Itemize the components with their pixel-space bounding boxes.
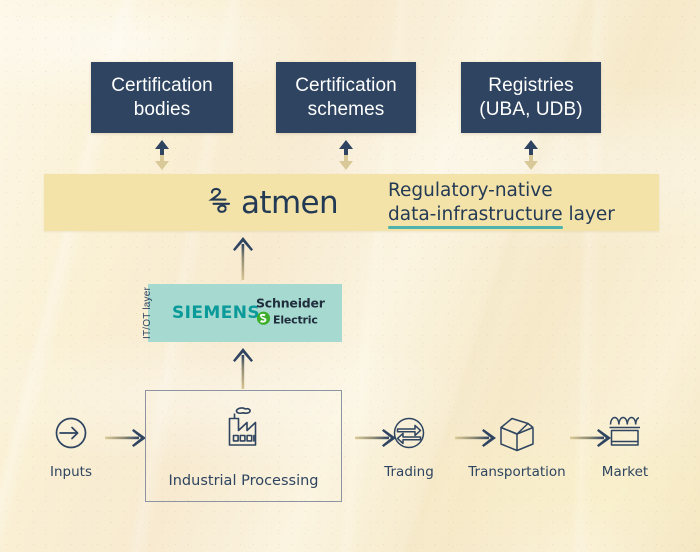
chain-node-inputs[interactable]: Inputs: [40, 413, 102, 480]
certification-bodies-box[interactable]: Certification bodies: [91, 62, 233, 133]
tagline-line-1: Regulatory-native: [388, 178, 615, 202]
diagram-canvas: Certification bodies Certification schem…: [0, 0, 700, 552]
certification-schemes-label: Certification schemes: [295, 74, 397, 120]
schneider-second-row: Electric: [256, 311, 325, 329]
registries-box[interactable]: Registries (UBA, UDB): [461, 62, 601, 133]
chain-node-label: Market: [602, 464, 648, 480]
arrow-up-icon-itot-to-atmen: [231, 236, 255, 280]
inputs-arrow-into-circle-icon: [51, 413, 91, 453]
tagline-line-2-rest: layer: [563, 204, 615, 225]
bidirectional-arrow-icon-schemes: [333, 138, 359, 172]
siemens-wordmark-icon: SIEMENS: [172, 303, 260, 323]
exchange-arrows-circle-icon: [389, 413, 429, 453]
itot-layer-side-label: IT/OT layer: [142, 287, 153, 339]
box-line-2: (UBA, UDB): [479, 99, 582, 120]
chain-node-label: Trading: [384, 464, 434, 480]
arrow-up-icon-processing-to-itot: [231, 347, 255, 389]
schneider-electric-logo-icon: Schneider Electric: [256, 297, 325, 329]
atmen-breath-logo-icon: [207, 185, 234, 220]
registries-label: Registries (UBA, UDB): [479, 74, 582, 120]
chain-node-trading[interactable]: Trading: [380, 413, 438, 480]
atmen-logo: atmen: [207, 185, 338, 221]
value-chain-row: Inputs: [0, 385, 700, 500]
chain-node-label: Transportation: [468, 464, 565, 480]
atmen-regulatory-layer-bar[interactable]: atmen Regulatory-native data-infrastruct…: [44, 174, 659, 231]
chain-node-transportation[interactable]: Transportation: [468, 413, 566, 480]
itot-layer-box[interactable]: IT/OT layer SIEMENS Schneider Electric: [148, 284, 342, 342]
bidirectional-arrow-icon-registries: [518, 138, 544, 172]
tagline-underlined-term: data-infrastructure: [388, 203, 563, 227]
arrow-right-icon-1: [105, 427, 147, 449]
box-line-1: Registries: [488, 75, 573, 96]
tagline-line-2: data-infrastructure layer: [388, 203, 615, 227]
chain-node-label: Industrial Processing: [168, 473, 318, 489]
box-line-1: Certification: [295, 75, 397, 96]
box-line-2: schemes: [308, 99, 385, 120]
certification-schemes-box[interactable]: Certification schemes: [276, 62, 416, 133]
box-line-1: Certification: [111, 75, 213, 96]
open-box-icon: [494, 413, 540, 453]
chain-node-market[interactable]: Market: [596, 411, 654, 480]
box-line-2: bodies: [134, 99, 191, 120]
chain-node-industrial-processing[interactable]: Industrial Processing: [145, 390, 342, 502]
certification-bodies-label: Certification bodies: [111, 74, 213, 120]
bidirectional-arrow-icon-bodies: [149, 138, 175, 172]
schneider-sub-label: Electric: [273, 314, 318, 325]
chain-node-label: Inputs: [50, 464, 92, 480]
factory-icon: [216, 404, 272, 459]
atmen-tagline: Regulatory-native data-infrastructure la…: [388, 178, 615, 226]
market-stall-icon: [604, 411, 646, 453]
schneider-name: Schneider: [256, 297, 325, 310]
atmen-wordmark: atmen: [241, 185, 338, 221]
schneider-green-mark-icon: [256, 311, 271, 329]
